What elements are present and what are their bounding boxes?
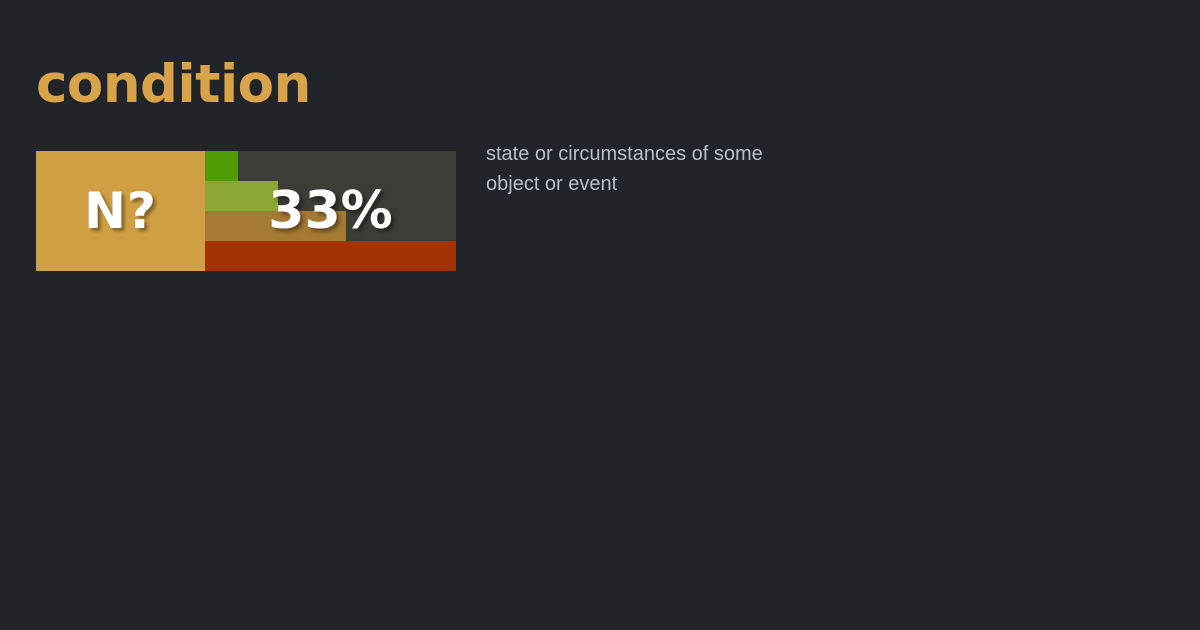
bar-chart: 33%: [205, 151, 456, 271]
definition-graphic-card: N? 33%: [36, 151, 456, 271]
label-panel: N?: [36, 151, 205, 271]
chart-bar: [205, 211, 346, 241]
chart-bar: [205, 181, 278, 211]
definition-text: state or circumstances of some object or…: [486, 139, 816, 199]
chart-bar: [205, 241, 456, 271]
label-panel-text: N?: [36, 151, 205, 271]
chart-bar: [205, 151, 238, 181]
page-title: condition: [36, 55, 311, 115]
